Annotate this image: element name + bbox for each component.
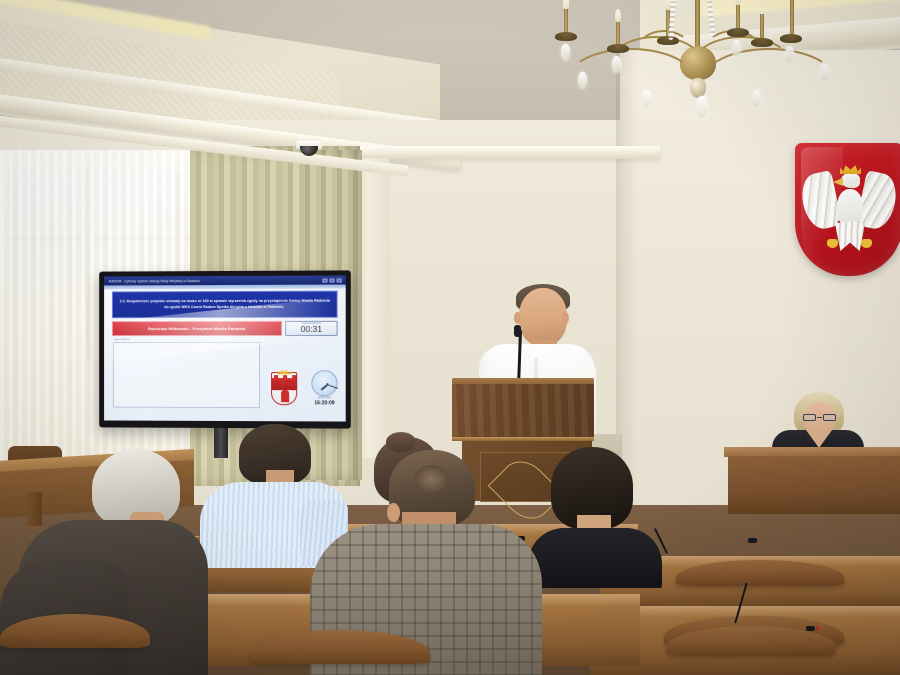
podium-microphone-icon bbox=[514, 325, 521, 337]
eagle-head bbox=[841, 173, 860, 188]
chandelier-bulb bbox=[735, 0, 741, 5]
microphone-indicator bbox=[816, 626, 819, 631]
chandelier-bobeche bbox=[780, 34, 802, 43]
chandelier-bobeche bbox=[751, 38, 773, 47]
dome-camera-icon bbox=[296, 141, 322, 156]
chandelier-bobeche bbox=[727, 28, 749, 37]
radom-merlon bbox=[283, 375, 287, 380]
clock-face bbox=[311, 370, 337, 396]
audience-person-hair-bun bbox=[386, 432, 416, 452]
speaker-list-box[interactable] bbox=[113, 342, 260, 408]
eagle-talon-right bbox=[861, 239, 872, 248]
chandelier bbox=[520, 0, 880, 124]
emblem-gloss bbox=[801, 147, 843, 267]
chandelier-crystal bbox=[752, 90, 761, 107]
speaker-name: Radoslaw Witkowski - Prezydent Miasta Ra… bbox=[148, 326, 246, 331]
close-icon[interactable] bbox=[337, 278, 342, 282]
glasses-icon bbox=[803, 414, 836, 421]
radom-merlon bbox=[292, 375, 296, 380]
podium-wood-grain bbox=[452, 384, 594, 438]
display-clock: 20.06.2022 16:20:09 bbox=[309, 370, 339, 410]
microphone-icon bbox=[748, 538, 757, 543]
speaker-ear-right bbox=[562, 312, 569, 324]
speaker-list-label: Lista mowcow bbox=[114, 338, 130, 341]
chandelier-stem bbox=[695, 0, 700, 48]
glasses-lens-left bbox=[803, 414, 816, 421]
chandelier-crystal bbox=[561, 44, 570, 61]
chandelier-crystal bbox=[820, 64, 829, 81]
radom-coat-of-arms-icon bbox=[271, 372, 297, 405]
camera-dome bbox=[300, 146, 318, 156]
window-controls[interactable] bbox=[322, 278, 341, 282]
speaker-row: Radoslaw Witkowski - Prezydent Miasta Ra… bbox=[112, 321, 338, 336]
chandelier-bobeche bbox=[555, 32, 577, 41]
chandelier-bead-strand bbox=[706, 0, 716, 36]
display-subbar bbox=[104, 285, 346, 290]
speaker-name-band: Radoslaw Witkowski - Prezydent Miasta Ra… bbox=[112, 321, 282, 336]
speaker-ear-left bbox=[514, 312, 521, 324]
microphone-icon bbox=[806, 626, 815, 631]
chandelier-bulb bbox=[615, 9, 621, 22]
speech-timer-value: 00:31 bbox=[301, 325, 322, 334]
audience-person-hair-crown bbox=[414, 465, 448, 493]
maximize-icon[interactable] bbox=[330, 278, 335, 282]
council-chamber-photo: RADOM - Cyfrowy system obslugi Rady Miej… bbox=[0, 0, 900, 675]
clock-time: 16:20:09 bbox=[309, 400, 339, 406]
radom-gate bbox=[281, 390, 289, 402]
chandelier-crystal bbox=[612, 56, 621, 73]
display-stand bbox=[214, 428, 228, 458]
audience-person-checked-jacket-ear bbox=[387, 503, 400, 522]
rear-desk-panel bbox=[728, 456, 900, 514]
speech-timer: Czas wystapienia 00:31 bbox=[285, 321, 337, 336]
chandelier-candle bbox=[790, 0, 794, 38]
polish-coat-of-arms-emblem bbox=[795, 143, 900, 276]
clock-minute-hand bbox=[327, 384, 338, 389]
agenda-item-banner: 2.3. Rozpatrzenie projektu uchwaly na dr… bbox=[112, 291, 338, 319]
clock-date: 20.06.2022 bbox=[309, 396, 339, 399]
chandelier-bulb bbox=[563, 0, 569, 9]
chandelier-crystal bbox=[578, 72, 587, 89]
chandelier-crystal bbox=[785, 46, 794, 63]
speaker-head bbox=[519, 288, 567, 346]
chandelier-crystal bbox=[642, 90, 651, 107]
minimize-icon[interactable] bbox=[322, 278, 327, 282]
chandelier-crystal bbox=[696, 96, 708, 118]
display-window-title: RADOM - Cyfrowy system obslugi Rady Miej… bbox=[109, 279, 200, 283]
glasses-lens-right bbox=[823, 414, 836, 421]
presentation-display[interactable]: RADOM - Cyfrowy system obslugi Rady Miej… bbox=[99, 270, 351, 428]
chandelier-bobeche bbox=[607, 44, 629, 53]
agenda-item-text: 2.3. Rozpatrzenie projektu uchwaly na dr… bbox=[118, 299, 332, 310]
chandelier-crystal bbox=[732, 40, 741, 57]
display-screen: RADOM - Cyfrowy system obslugi Rady Miej… bbox=[104, 275, 346, 421]
glasses-bridge bbox=[817, 417, 822, 418]
radom-merlon bbox=[274, 375, 278, 380]
left-table-leg bbox=[26, 492, 42, 526]
audience-person-dark-hair-body bbox=[528, 528, 662, 588]
radom-shield bbox=[271, 372, 297, 405]
